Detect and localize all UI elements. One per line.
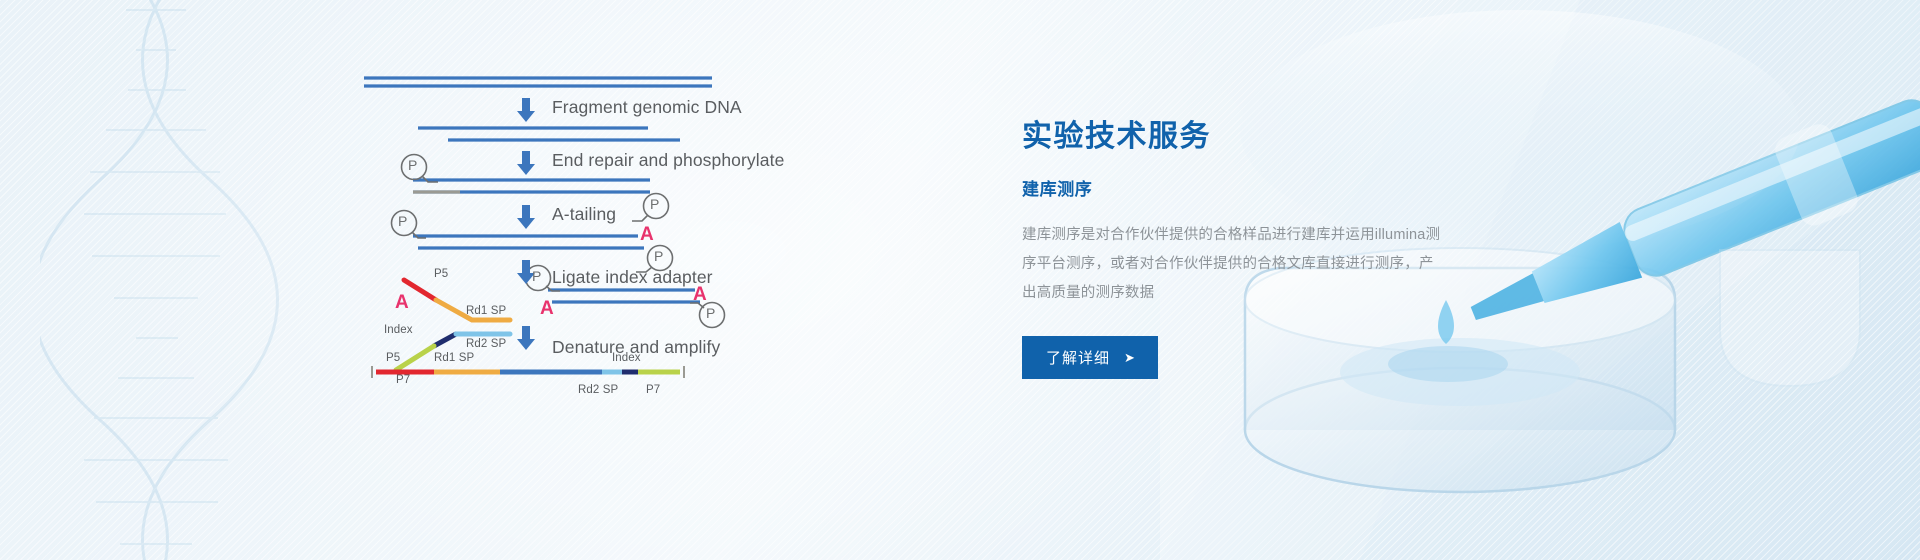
construct-label-p5: P5 [386,352,400,364]
construct-label-rd2sp: Rd2 SP [578,384,618,396]
adenine-marker-ligated-2: A [540,298,554,320]
learn-more-label: 了解详细 [1046,347,1110,368]
stage-arrow-3 [517,205,535,229]
phosphate-letter-5: P [532,268,541,284]
stage-label-fragment: Fragment genomic DNA [552,97,742,118]
phosphate-letter-2: P [398,213,407,229]
adapter-label-index: Index [384,324,413,336]
learn-more-button[interactable]: 了解详细 ➤ [1022,336,1158,379]
library-prep-workflow-diagram: A A A A P P P P P P Fragment genomic DNA… [360,58,820,398]
stage-label-ligate: Ligate index adapter [552,267,713,288]
stage-arrow-5 [517,326,535,350]
adenine-marker-right: A [640,224,654,246]
adapter-arm-index [434,334,456,346]
adenine-marker-left: A [395,292,409,314]
adapter-label-p5: P5 [434,268,448,280]
construct-label-p7: P7 [646,384,660,396]
stage-arrow-2 [517,151,535,175]
adapter-arm-p7 [396,346,434,370]
phosphate-letter-4: P [654,248,663,264]
arrow-right-icon: ➤ [1124,351,1136,364]
stage-label-end-repair: End repair and phosphorylate [552,150,784,171]
phosphate-letter-1: P [408,157,417,173]
phosphate-letter-3: P [650,196,659,212]
stage-arrow-1 [517,98,535,122]
final-construct-graphic [372,366,684,378]
service-description: 建库测序是对合作伙伴提供的合格样品进行建库并运用illumina测序平台测序，或… [1022,221,1442,308]
phosphate-letter-6: P [706,305,715,321]
service-info-panel: 实验技术服务 建库测序 建库测序是对合作伙伴提供的合格样品进行建库并运用illu… [1022,120,1492,379]
stage-label-a-tailing: A-tailing [552,204,616,225]
adapter-label-rd1sp: Rd1 SP [466,305,506,317]
adapter-label-p7: P7 [396,374,410,386]
page-title: 实验技术服务 [1022,120,1492,153]
dna-helix-decoration [40,0,280,560]
service-banner: A A A A P P P P P P Fragment genomic DNA… [0,0,1920,560]
construct-label-rd1sp: Rd1 SP [434,352,474,364]
stage-arrows [517,98,535,350]
adapter-label-rd2sp: Rd2 SP [466,338,506,350]
service-subtitle: 建库测序 [1022,175,1492,200]
construct-label-index: Index [612,352,641,364]
